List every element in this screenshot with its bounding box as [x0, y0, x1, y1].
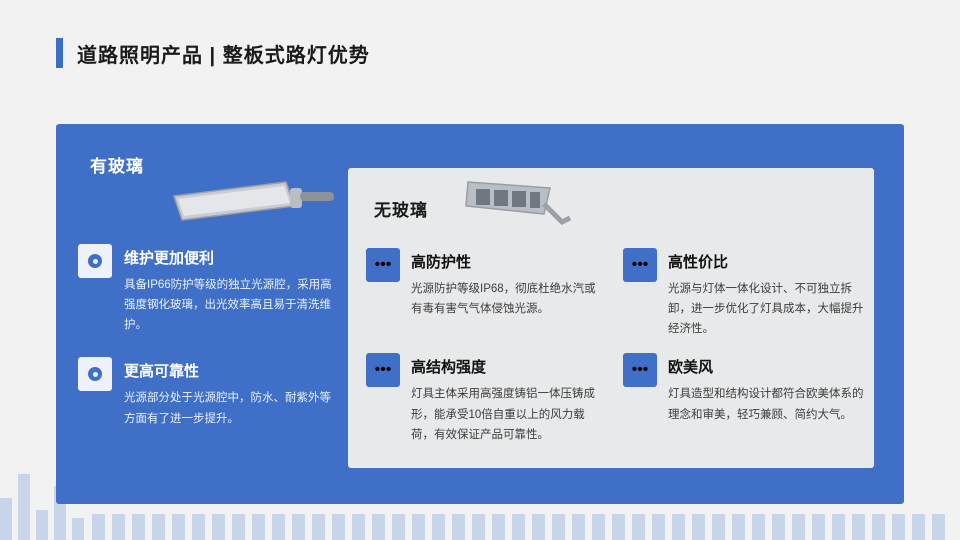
feature-text: 灯具造型和结构设计都符合欧美体系的理念和审美，轻巧兼顾、简约大气。 [668, 384, 864, 424]
left-feature-list: 维护更加便利 具备IP66防护等级的独立光源腔，采用高强度钢化玻璃，出光效率高且… [78, 244, 338, 451]
right-card: 无玻璃 ••• 高防护性 光源防护等级IP68，彻底杜绝水汽或有毒有害气气体侵蚀… [348, 168, 874, 468]
feature-text: 光源与灯体一体化设计、不可独立拆卸，进一步优化了灯具成本，大幅提升经济性。 [668, 279, 864, 339]
card-title: 无玻璃 [374, 196, 428, 221]
list-item: 更高可靠性 光源部分处于光源腔中，防水、耐紫外等方面有了进一步提升。 [78, 357, 338, 428]
header-accent-bar [56, 38, 63, 68]
list-item: ••• 高性价比 光源与灯体一体化设计、不可独立拆卸，进一步优化了灯具成本，大幅… [623, 248, 864, 339]
list-item: ••• 欧美风 灯具造型和结构设计都符合欧美体系的理念和审美，轻巧兼顾、简约大气… [623, 353, 864, 444]
street-lamp-no-glass-icon [458, 174, 588, 246]
feature-text: 光源部分处于光源腔中，防水、耐紫外等方面有了进一步提升。 [124, 388, 338, 428]
feature-heading: 维护更加便利 [124, 247, 338, 268]
dots-icon: ••• [623, 248, 657, 282]
left-column-title: 有玻璃 [90, 152, 144, 177]
feature-heading: 高结构强度 [411, 356, 607, 377]
feature-text: 光源防护等级IP68，彻底杜绝水汽或有毒有害气气体侵蚀光源。 [411, 279, 607, 319]
list-item: ••• 高防护性 光源防护等级IP68，彻底杜绝水汽或有毒有害气气体侵蚀光源。 [366, 248, 607, 339]
dots-icon: ••• [366, 353, 400, 387]
feature-heading: 欧美风 [668, 356, 864, 377]
content-panel: 有玻璃 维护更加便利 具备IP66防护等级的独立光源腔，采用高强度钢化玻璃，出光… [56, 124, 904, 504]
page-title: 道路照明产品 | 整板式路灯优势 [77, 39, 370, 68]
dots-icon: ••• [366, 248, 400, 282]
card-feature-grid: ••• 高防护性 光源防护等级IP68，彻底杜绝水汽或有毒有害气气体侵蚀光源。 … [366, 248, 864, 445]
page-header: 道路照明产品 | 整板式路灯优势 [56, 38, 370, 68]
feature-text: 灯具主体采用高强度铸铝一体压铸成形，能承受10倍自重以上的风力载荷，有效保证产品… [411, 384, 607, 444]
circle-dot-icon [78, 357, 112, 391]
list-item: ••• 高结构强度 灯具主体采用高强度铸铝一体压铸成形，能承受10倍自重以上的风… [366, 353, 607, 444]
decorative-bars-bottom [0, 514, 960, 540]
feature-heading: 高性价比 [668, 251, 864, 272]
street-lamp-with-glass-icon [166, 166, 346, 228]
circle-dot-icon [78, 244, 112, 278]
feature-heading: 更高可靠性 [124, 360, 338, 381]
feature-text: 具备IP66防护等级的独立光源腔，采用高强度钢化玻璃，出光效率高且易于清洗维护。 [124, 275, 338, 335]
dots-icon: ••• [623, 353, 657, 387]
feature-heading: 高防护性 [411, 251, 607, 272]
list-item: 维护更加便利 具备IP66防护等级的独立光源腔，采用高强度钢化玻璃，出光效率高且… [78, 244, 338, 335]
